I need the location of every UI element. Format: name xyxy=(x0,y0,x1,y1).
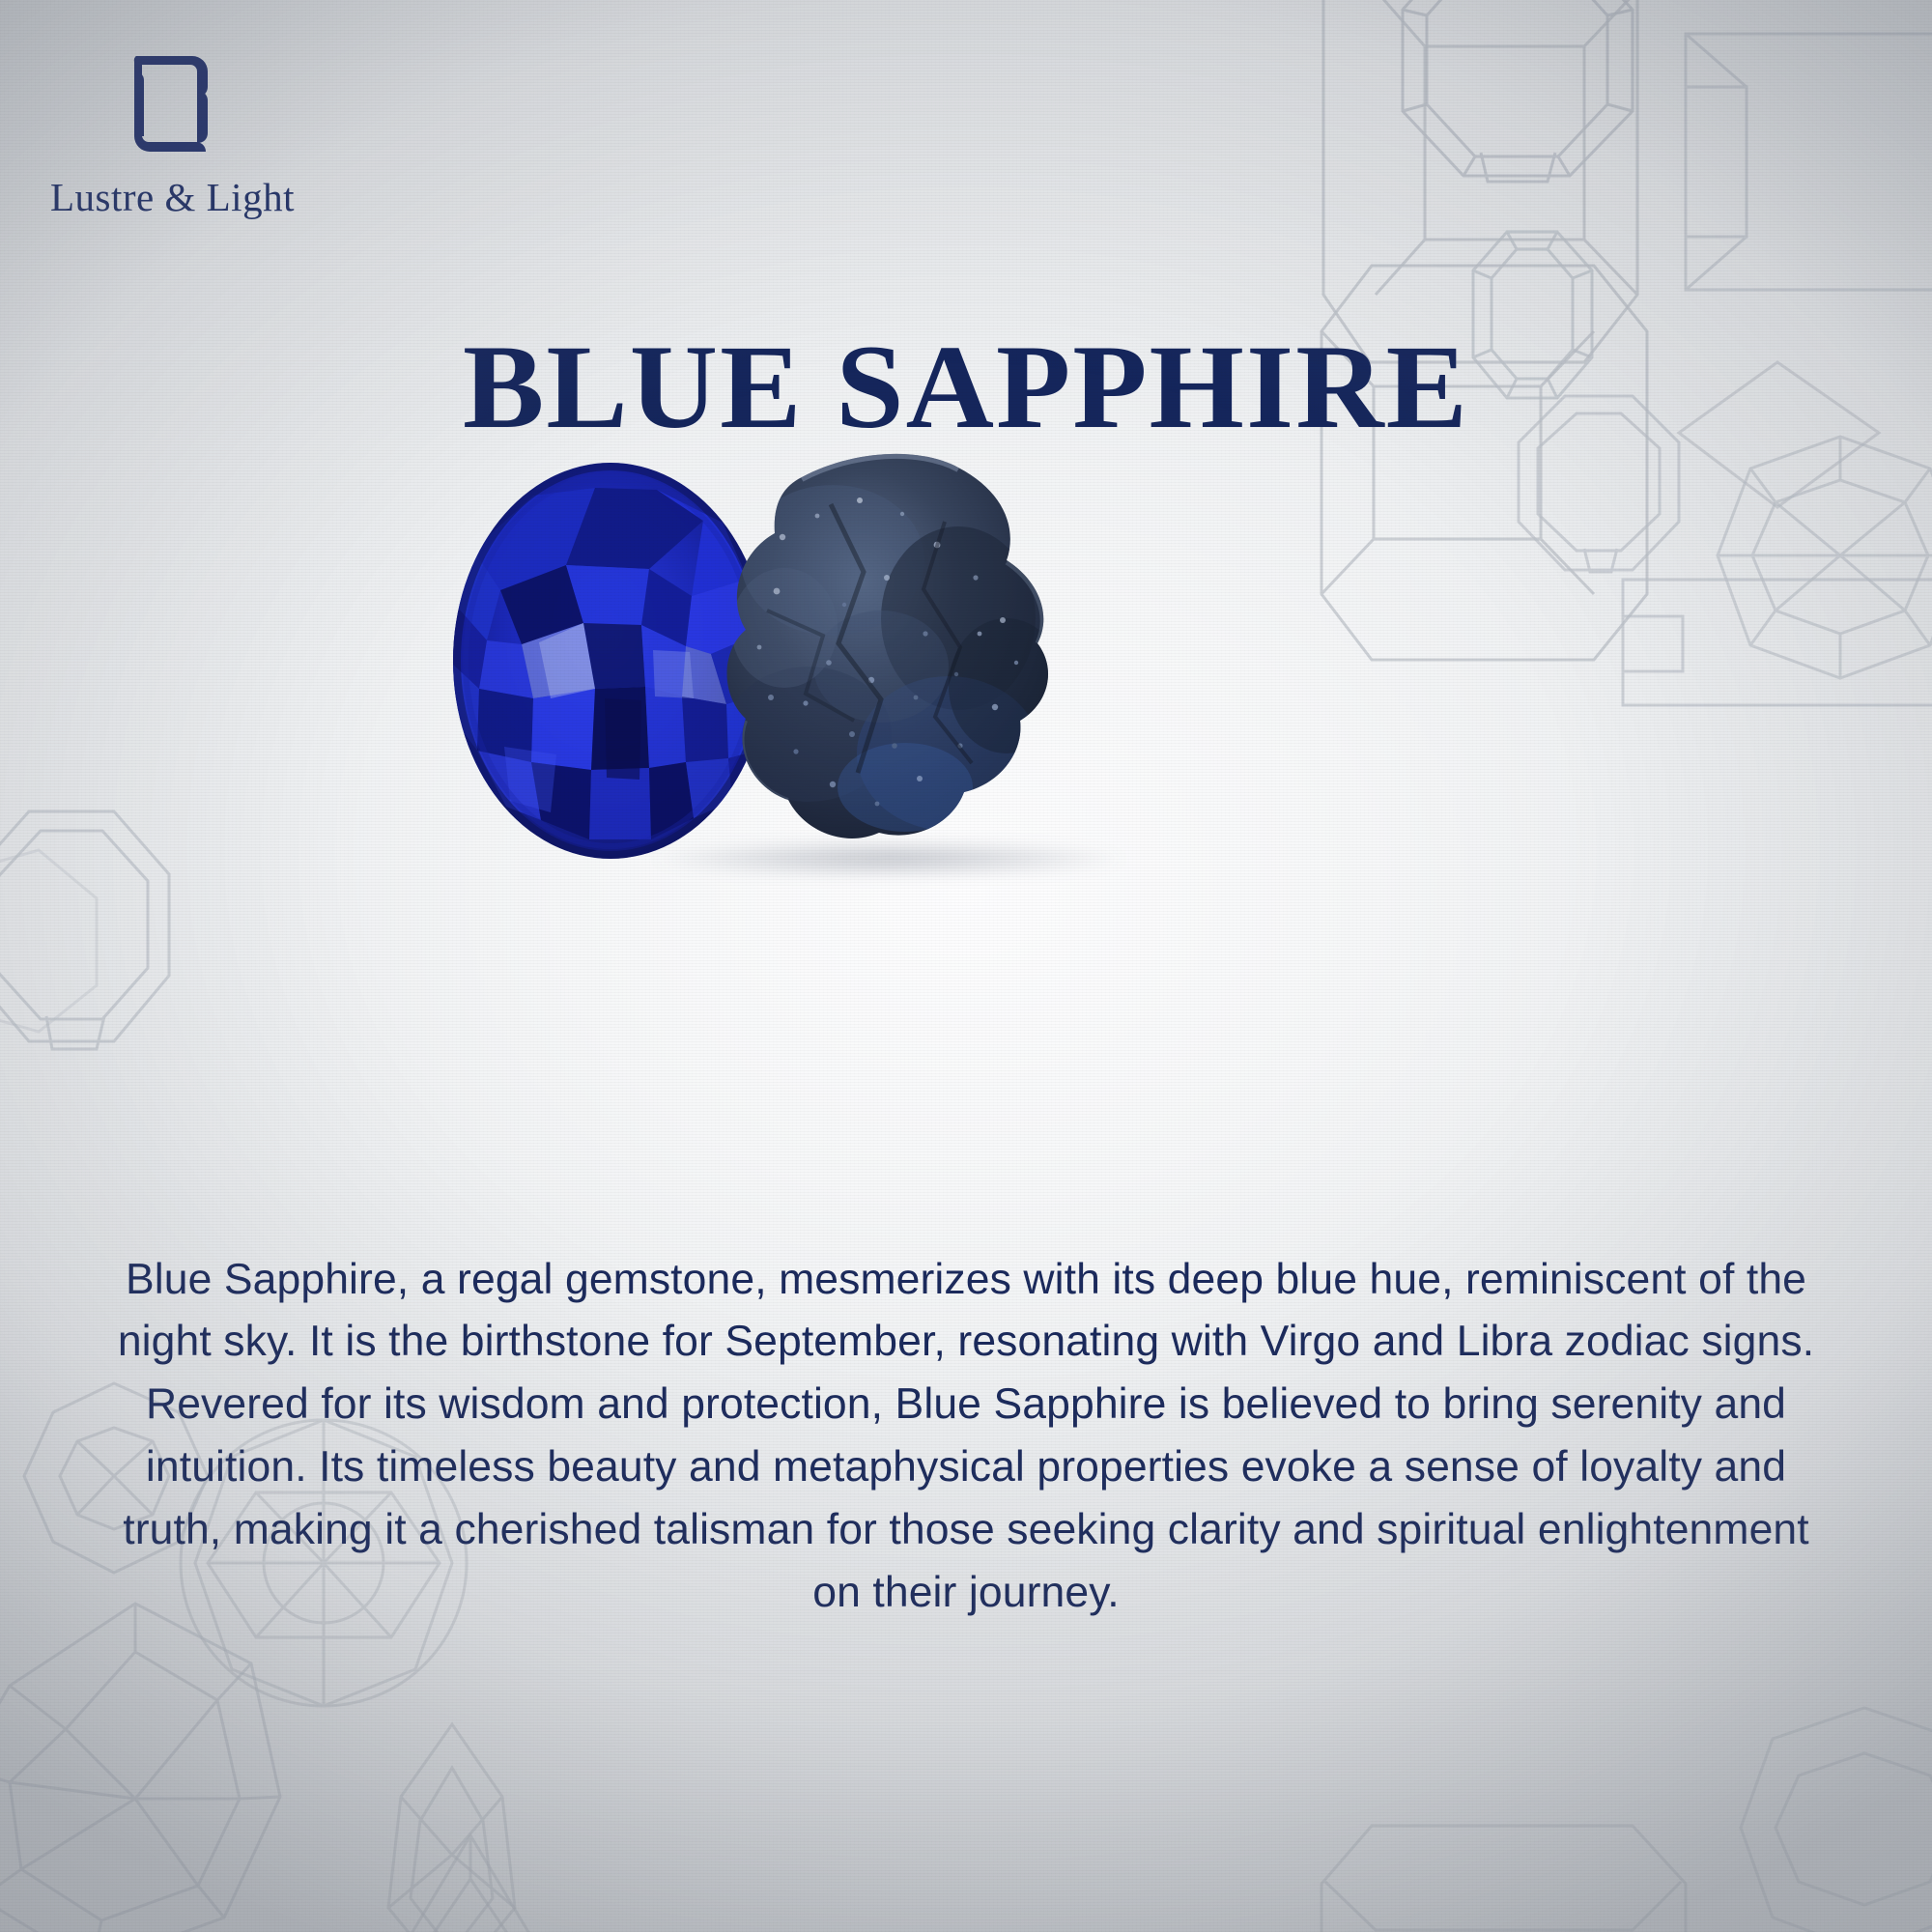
rough-sapphire-crystal-image xyxy=(717,444,1065,850)
round-brilliant-outline-bottom-right xyxy=(1741,1708,1932,1932)
trillion-gem-outline-bottom xyxy=(363,1835,578,1932)
gem-outline-svg xyxy=(0,0,1932,1932)
vignette-overlay xyxy=(0,0,1932,1932)
decorative-gem-outlines xyxy=(0,0,1932,1932)
pear-gem-outline-bottom-center xyxy=(388,1724,515,1932)
octagon-gem-outline-top xyxy=(1403,0,1633,182)
hero-gem-images xyxy=(0,440,1932,894)
paper-texture-overlay xyxy=(0,0,1932,1932)
baguette-gem-outline-bottom-right xyxy=(1321,1826,1686,1932)
brand-name: Lustre & Light xyxy=(50,174,292,220)
page-title: BLUE SAPPHIRE xyxy=(0,324,1932,450)
lustre-light-monogram-icon xyxy=(127,50,215,164)
emerald-cut-gem-outline-top-right xyxy=(1323,0,1637,362)
rectangle-gem-outline-right xyxy=(1686,34,1932,290)
poster-canvas: Lustre & Light BLUE SAPPHIRE xyxy=(0,0,1932,1932)
pear-gem-outline-bottom-left xyxy=(0,1604,280,1932)
description-text: Blue Sapphire, a regal gemstone, mesmeri… xyxy=(114,1249,1818,1626)
brand-logo[interactable]: Lustre & Light xyxy=(50,50,292,220)
